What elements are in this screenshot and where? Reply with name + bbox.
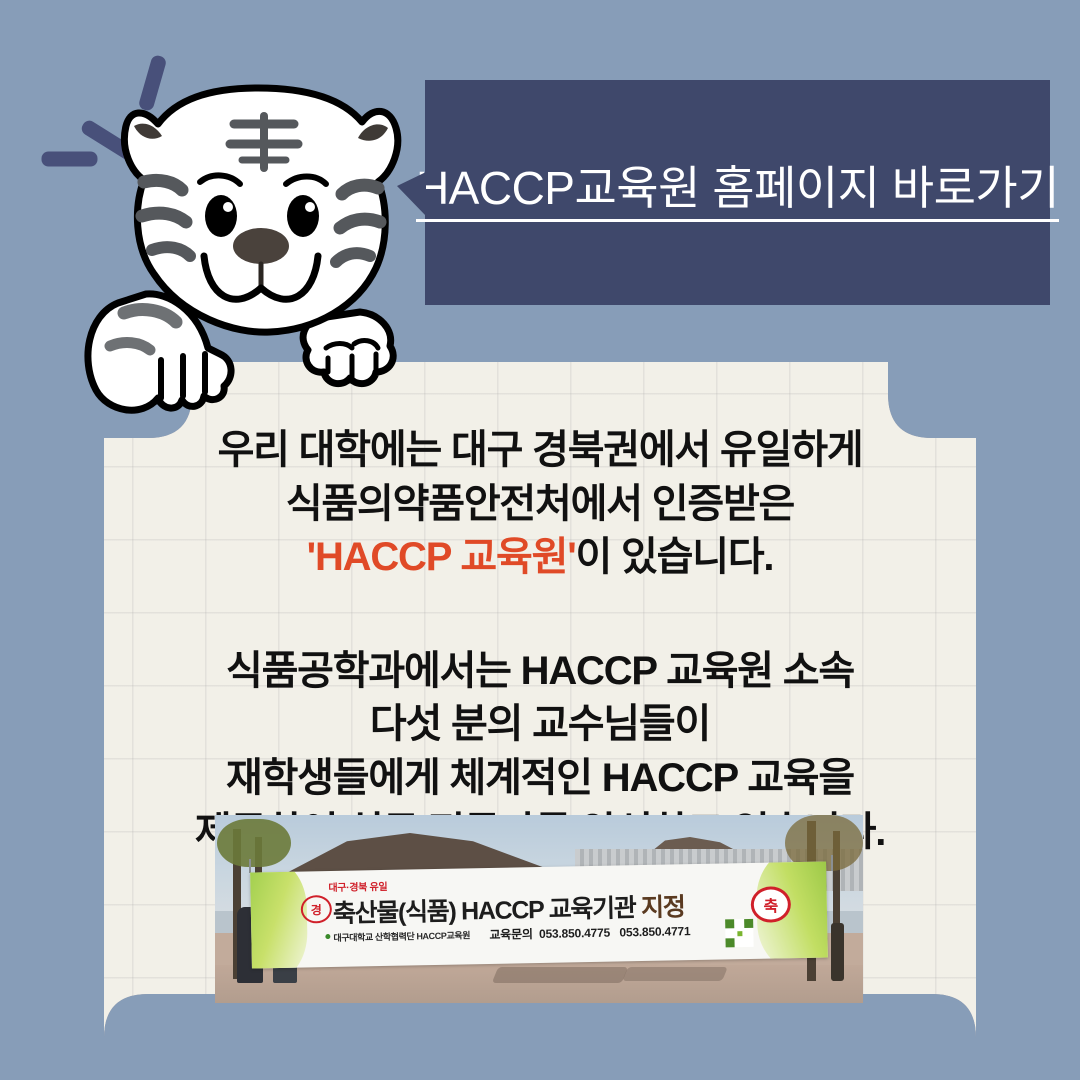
banner-main-a: 축산물(식품) HACCP 교육기관 <box>333 894 642 928</box>
para1-line-1: 우리 대학에는 대구 경북권에서 유일하게 <box>104 424 976 478</box>
banner-tel-text: 교육문의 053.850.4775 053.850.4771 <box>489 922 690 943</box>
white-tiger-mascot <box>58 60 458 420</box>
photo-banner-rope <box>831 855 833 871</box>
content-card: 우리 대학에는 대구 경북권에서 유일하게 식품의약품안전처에서 인증받은 'H… <box>0 330 1080 1080</box>
header-speech-banner[interactable]: HACCP교육원 홈페이지 바로가기 <box>425 80 1050 305</box>
banner-main-emphasis: 지정 <box>641 893 685 922</box>
banner-tel-1: 053.850.4775 <box>539 926 610 941</box>
quote-open: ' <box>307 535 315 579</box>
para1-line-3-tail: 이 있습니다. <box>576 535 774 579</box>
poster-canvas: HACCP교육원 홈페이지 바로가기 우리 대학에는 대구 경북권에서 유일하게… <box>0 0 1080 1080</box>
photo-shadow <box>622 967 728 981</box>
para2-line-1: 식품공학과에서는 HACCP 교육원 소속 <box>104 645 976 699</box>
haccp-designation-photo: 대구·경북 유일 경 축산물(식품) HACCP 교육기관 지정 축 대구대학교… <box>215 815 863 1003</box>
photo-bollard <box>831 923 844 981</box>
haccp-institute-highlight: HACCP 교육원 <box>315 535 567 579</box>
banner-green-swoosh-left <box>250 861 308 968</box>
paragraph-one: 우리 대학에는 대구 경북권에서 유일하게 식품의약품안전처에서 인증받은 'H… <box>104 424 976 585</box>
para1-line-2: 식품의약품안전처에서 인증받은 <box>104 478 976 532</box>
banner-tel-label: 교육문의 <box>489 927 533 942</box>
para2-line-3: 재학생들에게 체계적인 HACCP 교육을 <box>104 752 976 806</box>
card-text-content: 우리 대학에는 대구 경북권에서 유일하게 식품의약품안전처에서 인증받은 'H… <box>104 368 976 859</box>
banner-sub-text: 대구대학교 산학협력단 HACCP교육원 <box>333 928 470 944</box>
banner-qr-code-icon <box>725 919 754 948</box>
para2-line-2: 다섯 분의 교수님들이 <box>104 698 976 752</box>
tiger-illustration <box>58 60 458 420</box>
haccp-homepage-link[interactable]: HACCP교육원 홈페이지 바로가기 <box>416 163 1059 223</box>
banner-seal-left-icon: 경 <box>301 895 333 924</box>
photo-shadow <box>492 967 628 983</box>
banner-top-line: 대구·경북 유일 <box>328 878 387 894</box>
quote-close: ' <box>567 535 575 579</box>
photo-banner-cloth: 대구·경북 유일 경 축산물(식품) HACCP 교육기관 지정 축 대구대학교… <box>250 861 828 968</box>
para1-line-3: 'HACCP 교육원'이 있습니다. <box>104 531 976 585</box>
banner-tel-2: 053.850.4771 <box>619 924 690 939</box>
photo-foliage <box>217 819 291 867</box>
photo-banner-rope <box>249 859 251 873</box>
banner-bullet-icon <box>325 934 330 939</box>
